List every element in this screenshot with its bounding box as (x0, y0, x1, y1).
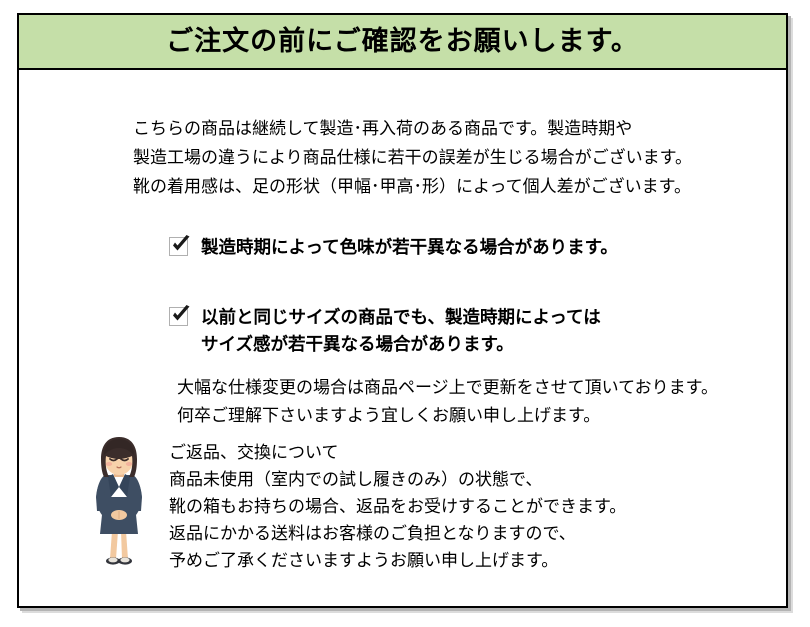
checklist-line: サイズ感が若干異なる場合があります。 (201, 334, 514, 354)
spec-update-paragraph: 大幅な仕様変更の場合は商品ページ上で更新をさせて頂いております。 何卒ご理解下さ… (177, 374, 718, 430)
notice-header: ご注文の前にご確認をお願いします。 (19, 15, 786, 70)
checklist-line: 製造時期によって色味が若干異なる場合があります。 (201, 237, 618, 257)
returns-policy-line: 予めご了承くださいますようお願い申し上げます。 (169, 547, 626, 574)
checklist-line: 以前と同じサイズの商品でも、製造時期によっては (201, 307, 601, 327)
spec-update-line: 何卒ご理解下さいますよう宜しくお願い申し上げます。 (177, 402, 718, 430)
returns-policy-line: 返品にかかる送料はお客様のご負担となりますので、 (169, 520, 626, 547)
returns-policy-line: 靴の箱もお持ちの場合、返品をお受けすることができます。 (169, 493, 626, 520)
page-title: ご注文の前にご確認をお願いします。 (166, 28, 639, 55)
returns-policy-paragraph: ご返品、交換について 商品未使用（室内での試し履きのみ）の状態で、 靴の箱もお持… (169, 439, 626, 574)
returns-policy-line: ご返品、交換について (169, 439, 626, 466)
notice-card: ご注文の前にご確認をお願いします。 こちらの商品は継続して製造･再入荷のある商品… (17, 13, 788, 608)
intro-line: 靴の着用感は、足の形状（甲幅･甲高･形）によって個人差がございます。 (133, 172, 773, 201)
checklist-item-text: 製造時期によって色味が若干異なる場合があります。 (201, 234, 618, 261)
checkbox-checked-icon (169, 237, 188, 256)
intro-line: こちらの商品は継続して製造･再入荷のある商品です。製造時期や (133, 114, 773, 143)
checklist-item: 製造時期によって色味が若干異なる場合があります。 (169, 234, 618, 261)
intro-line: 製造工場の違うにより商品仕様に若干の誤差が生じる場合がございます。 (133, 143, 773, 172)
intro-paragraph: こちらの商品は継続して製造･再入荷のある商品です。製造時期や 製造工場の違うによ… (133, 114, 773, 201)
checklist-item: 以前と同じサイズの商品でも、製造時期によっては サイズ感が若干異なる場合がありま… (169, 304, 786, 358)
returns-policy-line: 商品未使用（室内での試し履きのみ）の状態で、 (169, 466, 626, 493)
notice-body: こちらの商品は継続して製造･再入荷のある商品です。製造時期や 製造工場の違うによ… (19, 70, 786, 608)
checkbox-checked-icon (169, 307, 188, 326)
spec-update-line: 大幅な仕様変更の場合は商品ページ上で更新をさせて頂いております。 (177, 374, 718, 402)
bowing-sales-clerk-illustration (76, 431, 166, 576)
checklist-item-text: 以前と同じサイズの商品でも、製造時期によっては サイズ感が若干異なる場合がありま… (201, 304, 786, 358)
